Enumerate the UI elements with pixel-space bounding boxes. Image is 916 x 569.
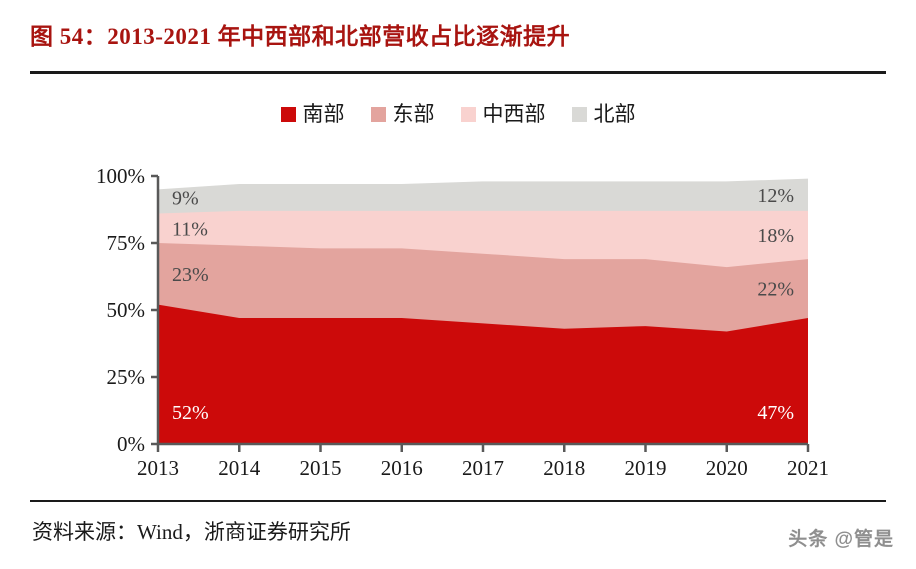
y-tick-label-1: 25% xyxy=(107,365,146,389)
legend-swatch-central-west xyxy=(461,107,476,122)
data-label-南部-2013: 52% xyxy=(172,402,209,424)
y-tick-label-3: 75% xyxy=(107,231,146,255)
x-tick-label-3: 2016 xyxy=(381,456,423,480)
data-label-中西部-2013: 11% xyxy=(172,218,208,240)
x-tick-label-5: 2018 xyxy=(543,456,585,480)
data-label-南部-2021: 47% xyxy=(757,402,794,424)
legend-item-3[interactable]: 北部 xyxy=(572,104,636,125)
figure-title-block: 图 54：2013-2021 年中西部和北部营收占比逐渐提升 xyxy=(30,22,886,52)
legend-label-1: 东部 xyxy=(393,104,435,125)
chart-area: 0%25%50%75%100%2013201420152016201720182… xyxy=(0,150,916,490)
figure-container: 图 54：2013-2021 年中西部和北部营收占比逐渐提升 南部东部中西部北部… xyxy=(0,0,916,569)
x-tick-label-6: 2019 xyxy=(625,456,667,480)
watermark-label: 头条 @管是 xyxy=(788,524,894,551)
footer-divider xyxy=(30,500,886,502)
x-tick-label-7: 2020 xyxy=(706,456,748,480)
x-tick-label-1: 2014 xyxy=(218,456,261,480)
y-tick-label-4: 100% xyxy=(96,164,145,188)
data-label-东部-2013: 23% xyxy=(172,264,209,286)
page-title: 图 54：2013-2021 年中西部和北部营收占比逐渐提升 xyxy=(30,22,886,52)
legend-swatch-south xyxy=(281,107,296,122)
legend-swatch-north xyxy=(572,107,587,122)
x-tick-label-0: 2013 xyxy=(137,456,179,480)
legend-label-3: 北部 xyxy=(594,104,636,125)
legend-item-0[interactable]: 南部 xyxy=(281,104,345,125)
title-divider xyxy=(30,71,886,74)
x-tick-label-2: 2015 xyxy=(300,456,342,480)
legend-swatch-east xyxy=(371,107,386,122)
legend-item-1[interactable]: 东部 xyxy=(371,104,435,125)
data-label-北部-2013: 9% xyxy=(172,187,199,209)
y-tick-label-2: 50% xyxy=(107,298,146,322)
x-tick-label-4: 2017 xyxy=(462,456,504,480)
y-tick-label-0: 0% xyxy=(117,432,145,456)
x-tick-label-8: 2021 xyxy=(787,456,829,480)
legend-item-2[interactable]: 中西部 xyxy=(461,104,546,125)
legend-label-2: 中西部 xyxy=(483,104,546,125)
source-note: 资料来源：Wind，浙商证券研究所 xyxy=(32,516,351,546)
chart-legend: 南部东部中西部北部 xyxy=(0,104,916,125)
stacked-area-chart: 0%25%50%75%100%2013201420152016201720182… xyxy=(0,150,916,490)
data-label-东部-2021: 22% xyxy=(757,279,794,301)
data-label-中西部-2021: 18% xyxy=(757,225,794,247)
data-label-北部-2021: 12% xyxy=(757,185,794,207)
legend-label-0: 南部 xyxy=(303,104,345,125)
